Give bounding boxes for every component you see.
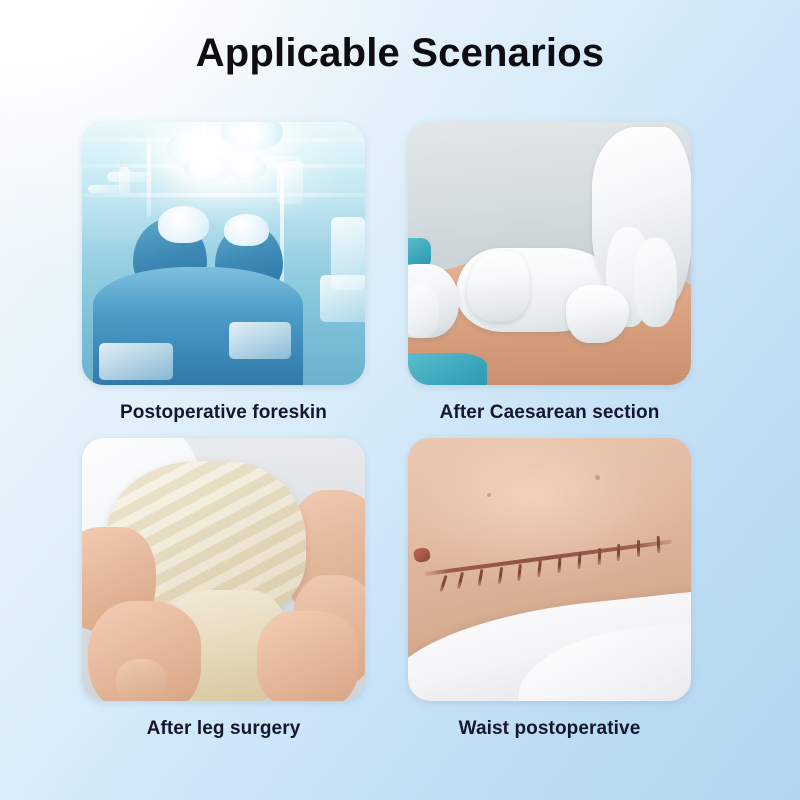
caesarean-dressing-photo[interactable]	[408, 122, 691, 385]
scenario-caption: After Caesarean section	[408, 402, 691, 425]
scenario-caption: After leg surgery	[82, 718, 365, 741]
waist-incision-photo[interactable]	[408, 438, 691, 701]
page-background: Applicable Scenarios	[0, 0, 800, 800]
scenario-card-after-caesarean-section[interactable]: After Caesarean section	[408, 122, 691, 425]
scenario-card-waist-postoperative[interactable]: Waist postoperative	[408, 438, 691, 741]
scenario-caption: Postoperative foreskin	[82, 402, 365, 425]
operating-room-photo[interactable]	[82, 122, 365, 385]
page-title: Applicable Scenarios	[0, 30, 800, 76]
scenario-card-after-leg-surgery[interactable]: After leg surgery	[82, 438, 365, 741]
scenario-caption: Waist postoperative	[408, 718, 691, 741]
leg-bandage-photo[interactable]	[82, 438, 365, 701]
scenario-card-postoperative-foreskin[interactable]: Postoperative foreskin	[82, 122, 365, 425]
scenario-grid: Postoperative foreskin	[82, 122, 691, 741]
